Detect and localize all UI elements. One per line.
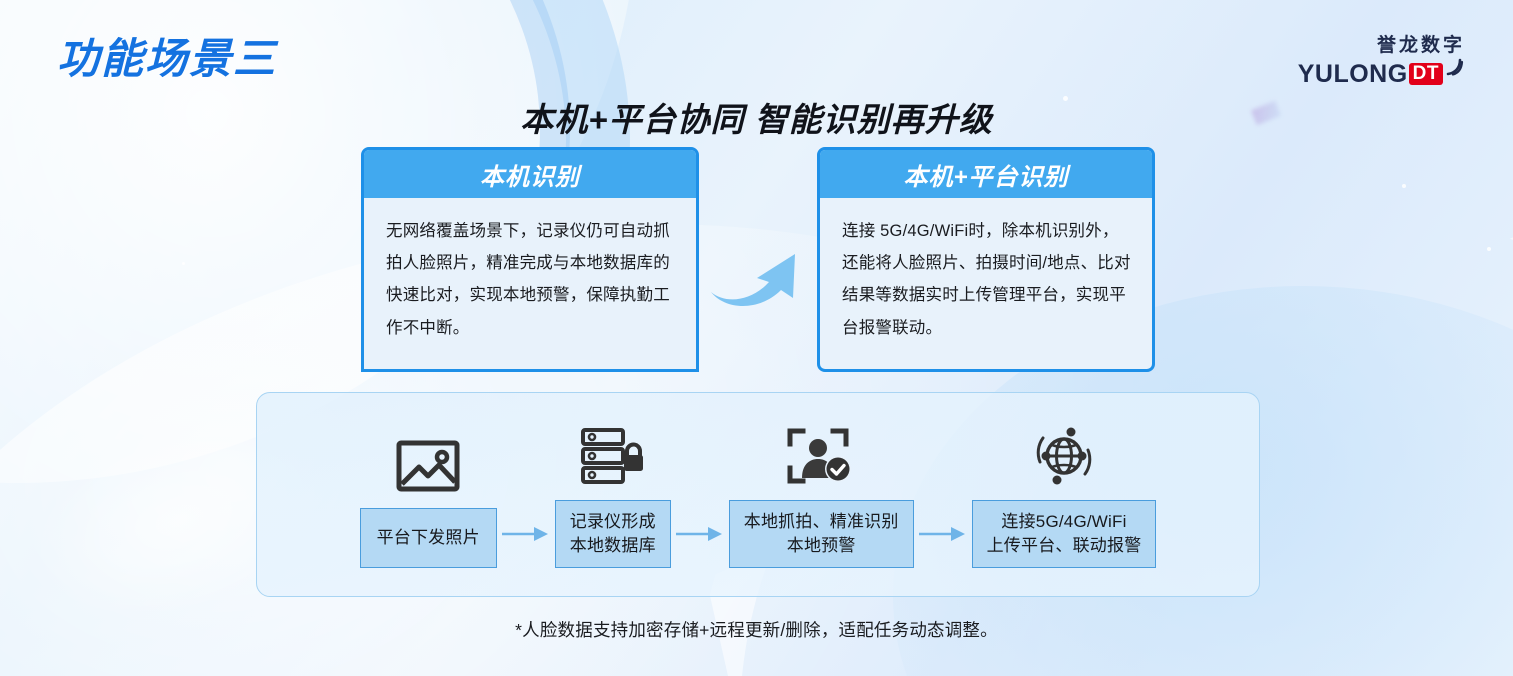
- process-step-3-label: 本地抓拍、精准识别 本地预警: [729, 500, 914, 568]
- curved-arrow-icon: [707, 218, 811, 315]
- face-recognition-icon: [785, 424, 857, 486]
- card-platform-recognition: 本机+平台识别 连接 5G/4G/WiFi时，除本机识别外，还能将人脸照片、拍摄…: [817, 147, 1155, 372]
- signal-arc-icon: [1445, 58, 1465, 80]
- process-step-4: 连接5G/4G/WiFi 上传平台、联动报警: [972, 424, 1157, 568]
- process-step-2-label: 记录仪形成 本地数据库: [555, 500, 671, 568]
- main-heading: 本机+平台协同 智能识别再升级: [0, 93, 1513, 141]
- footnote-text: *人脸数据支持加密存储+远程更新/删除，适配任务动态调整。: [0, 617, 1513, 642]
- process-arrow-3: [914, 526, 972, 568]
- process-step-4-label: 连接5G/4G/WiFi 上传平台、联动报警: [972, 500, 1157, 568]
- sparkle-dot: [1402, 184, 1406, 188]
- sparkle-dot: [182, 262, 185, 265]
- process-step-2: 记录仪形成 本地数据库: [555, 424, 671, 568]
- process-step-1-label: 平台下发照片: [360, 508, 497, 568]
- process-flow-panel: 平台下发照片: [256, 392, 1260, 597]
- page-title: 功能场景三: [57, 38, 277, 80]
- sparkle-dot: [1487, 247, 1491, 251]
- logo-dt-badge: DT: [1409, 63, 1443, 85]
- card-platform-recognition-title: 本机+平台识别: [820, 150, 1152, 198]
- brand-logo: 誉龙数字 YULONG DT: [1298, 36, 1465, 90]
- process-arrow-2: [671, 526, 729, 568]
- card-local-recognition: 本机识别 无网络覆盖场景下，记录仪仍可自动抓拍人脸照片，精准完成与本地数据库的快…: [361, 147, 699, 372]
- process-step-1: 平台下发照片: [360, 432, 497, 568]
- process-step-3: 本地抓拍、精准识别 本地预警: [729, 424, 914, 568]
- process-arrow-1: [497, 526, 555, 568]
- image-photo-icon: [395, 432, 461, 494]
- card-local-recognition-title: 本机识别: [364, 150, 696, 198]
- database-lock-icon: [578, 424, 648, 486]
- slide-canvas: 功能场景三 誉龙数字 YULONG DT 本机+平台协同 智能识别再升级 本机识…: [0, 0, 1513, 676]
- logo-latin-name: YULONG: [1298, 62, 1408, 87]
- card-local-recognition-body: 无网络覆盖场景下，记录仪仍可自动抓拍人脸照片，精准完成与本地数据库的快速比对，实…: [364, 198, 696, 344]
- logo-chinese-name: 誉龙数字: [1298, 36, 1465, 55]
- globe-network-icon: [1031, 424, 1097, 486]
- card-platform-recognition-body: 连接 5G/4G/WiFi时，除本机识别外，还能将人脸照片、拍摄时间/地点、比对…: [820, 198, 1152, 344]
